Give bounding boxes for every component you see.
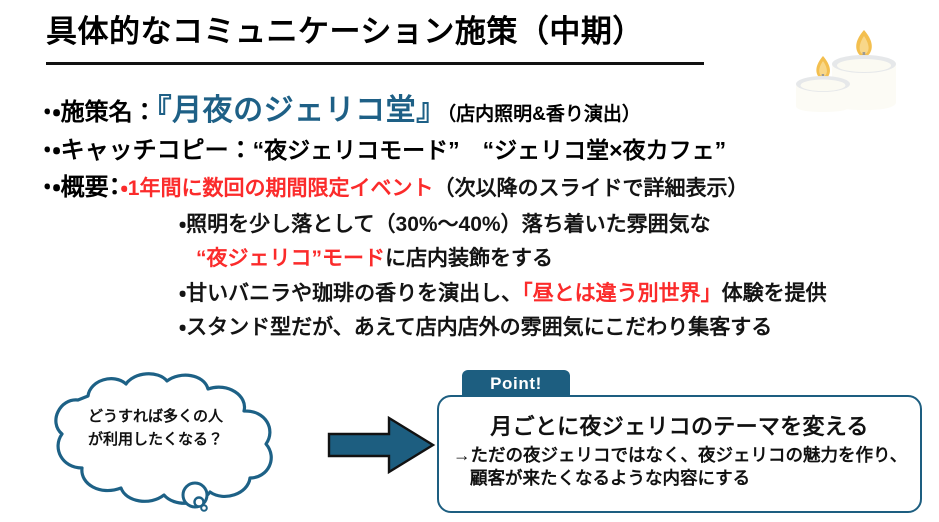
outline-item-3-red: 「昼とは違う別世界」 — [522, 282, 722, 305]
point-box: Point! 月ごとに夜ジェリコのテーマを変える →ただの夜ジェリコではなく、夜… — [437, 370, 924, 516]
point-sub-line-2: 顧客が来たくなるような内容にする — [453, 467, 913, 490]
bullet-marker: ・ — [44, 101, 50, 122]
bullet-marker: ・ — [44, 139, 50, 160]
point-subtext: →ただの夜ジェリコではなく、夜ジェリコの魅力を作り、 顧客が来たくなるような内容… — [453, 444, 913, 490]
outline-item-2-black: に店内装飾をする — [385, 247, 553, 270]
right-arrow-icon — [327, 414, 437, 476]
outline-item-1-black: 照明を少し落として（30%〜40%）落ち着いた雰囲気な — [186, 213, 710, 236]
outline-item-4: ・スタンド型だが、あえて店内店外の雰囲気にこだわり集客する — [44, 317, 924, 338]
outline-item-1: ・照明を少し落として（30%〜40%）落ち着いた雰囲気な — [44, 214, 924, 235]
bullet-catch-copy: ・・キャッチコピー：“夜ジェリコモード” “ジェリコ堂×夜カフェ” — [44, 139, 924, 163]
thought-bubble-text: どうすれば多くの人 が利用したくなる？ — [88, 406, 278, 451]
measure-name-label: ・施策名： — [52, 99, 156, 126]
catch-copy-value: “夜ジェリコモード” “ジェリコ堂×夜カフェ” — [253, 137, 726, 163]
bullet-outline: ・・概要：・1年間に数回の期間限定イベント（次以降のスライドで詳細表示） — [44, 176, 924, 200]
outline-item-3-black-2: 体験を提供 — [722, 282, 827, 305]
bullet-measure-name: ・・施策名：『月夜のジェリコ堂』（店内照明&香り演出） — [44, 96, 924, 126]
outline-item-0-marker: ・ — [121, 177, 128, 200]
point-sub-line-1: →ただの夜ジェリコではなく、夜ジェリコの魅力を作り、 — [453, 445, 907, 465]
slide-canvas: 具体的なコミュニケーション施策（中期） — [0, 0, 939, 522]
bullet-marker: ・ — [44, 176, 50, 197]
outline-label: ・概要： — [52, 174, 120, 201]
point-heading: 月ごとに夜ジェリコのテーマを変える — [439, 409, 920, 441]
measure-name-value: 『月夜のジェリコ堂』 — [157, 94, 447, 127]
page-title: 具体的なコミュニケーション施策（中期） — [46, 14, 644, 50]
outline-item-3: ・甘いバニラや珈琲の香りを演出し、「昼とは違う別世界」体験を提供 — [44, 283, 924, 304]
point-tab: Point! — [462, 370, 570, 397]
catch-copy-label: ・キャッチコピー： — [52, 137, 252, 164]
outline-item-2-red: “夜ジェリコ”モード — [196, 247, 385, 270]
outline-item-0-red: 1年間に数回の期間限定イベント — [128, 177, 434, 200]
measure-name-note: （店内照明&香り演出） — [447, 104, 641, 125]
outline-item-3-black-1: 甘いバニラや珈琲の香りを演出し、 — [186, 282, 522, 305]
outline-item-4-black: スタンド型だが、あえて店内店外の雰囲気にこだわり集客する — [186, 316, 772, 339]
bullet-list: ・・施策名：『月夜のジェリコ堂』（店内照明&香り演出） ・・キャッチコピー：“夜… — [44, 96, 924, 338]
outline-item-2: “夜ジェリコ”モードに店内装飾をする — [44, 248, 924, 269]
thought-line-2: が利用したくなる？ — [88, 429, 278, 452]
thought-line-1: どうすれば多くの人 — [88, 406, 278, 429]
point-tab-label: Point! — [490, 374, 542, 394]
point-body: 月ごとに夜ジェリコのテーマを変える →ただの夜ジェリコではなく、夜ジェリコの魅力… — [437, 395, 922, 513]
title-underline — [46, 62, 704, 65]
outline-item-0-black: （次以降のスライドで詳細表示） — [433, 177, 748, 200]
thought-bubble: どうすれば多くの人 が利用したくなる？ — [28, 366, 318, 522]
